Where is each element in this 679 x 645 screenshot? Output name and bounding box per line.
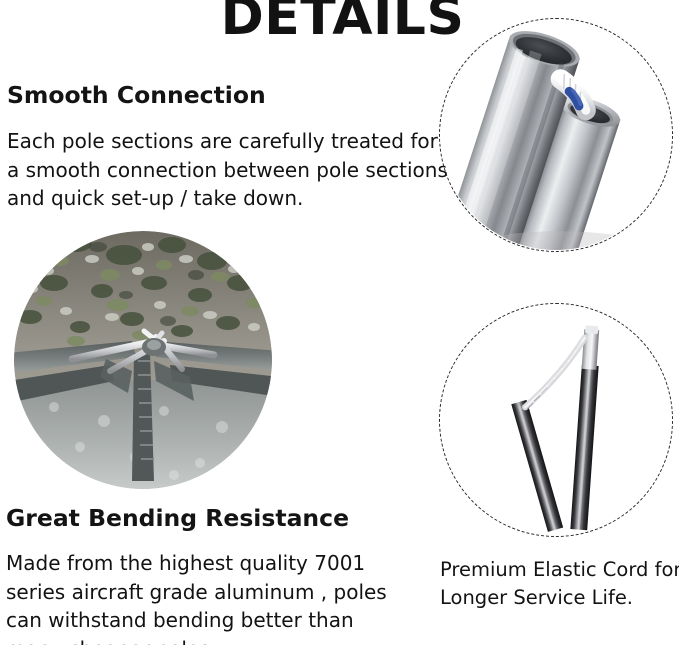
aluminum-tubes-illustration xyxy=(440,19,672,251)
smooth-connection-heading: Smooth Connection xyxy=(7,82,266,108)
body-line: Made from the highest quality 7001 xyxy=(6,549,426,578)
body-line: can withstand bending better than xyxy=(6,606,426,635)
body-line: Each pole sections are carefully treated… xyxy=(7,127,439,156)
body-line: and quick set-up / take down. xyxy=(7,184,439,213)
caption-line: Longer Service Life. xyxy=(440,584,676,612)
tent-pole-hub-photo xyxy=(14,231,272,489)
elastic-cord-caption: Premium Elastic Cord for Longer Service … xyxy=(440,556,676,612)
details-infographic-page: DETAILS Smooth Connection Each pole sect… xyxy=(0,0,679,645)
body-line: series aircraft grade aluminum , poles xyxy=(6,578,426,607)
caption-line: Premium Elastic Cord for xyxy=(440,556,676,584)
elastic-cord-pole-photo xyxy=(439,303,673,537)
tent-pole-illustration xyxy=(14,231,272,489)
bending-resistance-heading: Great Bending Resistance xyxy=(6,505,349,531)
aluminum-pole-tubes-photo xyxy=(439,18,673,252)
bending-resistance-body: Made from the highest quality 7001 serie… xyxy=(6,549,426,645)
body-line: many cheaper poles. xyxy=(6,635,426,645)
smooth-connection-body: Each pole sections are carefully treated… xyxy=(7,127,439,213)
body-line: a smooth connection between pole section… xyxy=(7,156,439,185)
elastic-cord-illustration xyxy=(440,304,672,536)
